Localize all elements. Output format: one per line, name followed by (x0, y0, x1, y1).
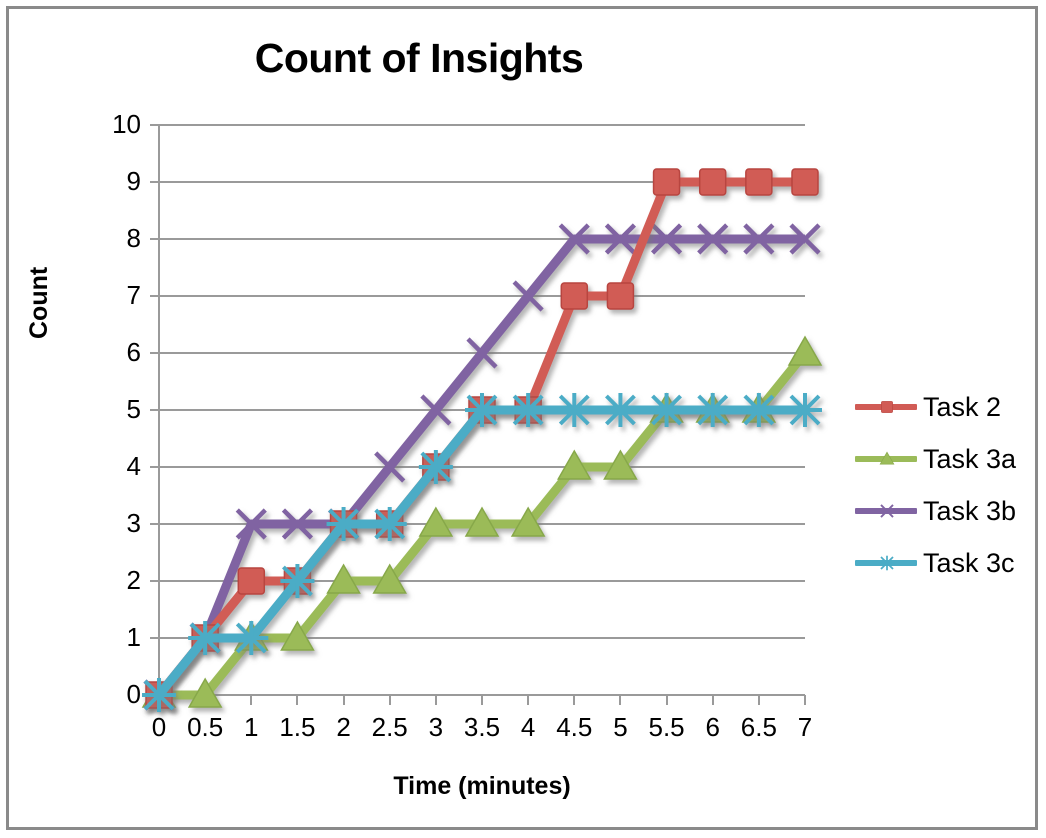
data-point-asterisk (557, 393, 591, 427)
data-point-square (654, 169, 680, 195)
y-tick (150, 409, 159, 411)
data-point-triangle (880, 452, 894, 464)
y-axis-tick-label: 10 (81, 109, 141, 140)
legend-marker-asterisk-icon (876, 552, 898, 574)
y-axis-tick-label: 0 (81, 679, 141, 710)
data-point-asterisk (142, 678, 176, 712)
data-point-square (792, 169, 818, 195)
data-point-asterisk (742, 393, 776, 427)
y-axis-tick-label: 5 (81, 394, 141, 425)
x-axis-title: Time (minutes) (159, 772, 805, 801)
series-line (159, 410, 805, 695)
data-point-x (422, 396, 450, 424)
y-axis-tick-label: 8 (81, 223, 141, 254)
legend-label: Task 3a (917, 444, 1016, 475)
y-axis-tick-label: 3 (81, 508, 141, 539)
legend-item-task-3c[interactable]: Task 3c (855, 537, 1045, 589)
series-task-2 (146, 169, 818, 708)
y-tick (150, 466, 159, 468)
legend-marker-square-icon (876, 396, 898, 418)
data-point-asterisk (880, 556, 895, 571)
plot-area (159, 125, 805, 695)
y-tick (150, 523, 159, 525)
y-axis-tick-label: 1 (81, 622, 141, 653)
legend-item-task-3a[interactable]: Task 3a (855, 433, 1045, 485)
x-tick (481, 695, 483, 705)
chart-legend: Task 2Task 3aTask 3bTask 3c (855, 381, 1045, 589)
x-tick (527, 695, 529, 705)
x-tick (573, 695, 575, 705)
y-axis-tick-label: 2 (81, 565, 141, 596)
data-point-square (881, 401, 892, 412)
legend-label: Task 2 (917, 392, 1001, 423)
legend-label: Task 3b (917, 496, 1016, 527)
y-axis-tick-label: 7 (81, 280, 141, 311)
data-point-asterisk (188, 621, 222, 655)
x-axis-tick-label: 7 (770, 712, 840, 743)
legend-marker-x-icon (876, 500, 898, 522)
y-tick (150, 238, 159, 240)
x-tick (666, 695, 668, 705)
y-axis-tick-label: 6 (81, 337, 141, 368)
legend-marker-triangle-icon (876, 448, 898, 470)
x-tick (296, 695, 298, 705)
y-tick (150, 124, 159, 126)
x-tick (250, 695, 252, 705)
y-tick (150, 637, 159, 639)
data-point-asterisk (327, 507, 361, 541)
y-axis-tick-label: 4 (81, 451, 141, 482)
chart-frame: Count of Insights Count 012345678910 00.… (6, 6, 1038, 830)
data-point-x (881, 505, 893, 517)
x-tick (389, 695, 391, 705)
y-tick (150, 181, 159, 183)
x-tick (712, 695, 714, 705)
data-point-x (514, 282, 542, 310)
data-point-square (607, 283, 633, 309)
data-point-asterisk (603, 393, 637, 427)
series-task-3a (143, 337, 821, 707)
data-point-square (746, 169, 772, 195)
legend-key-asterisk-icon (855, 548, 917, 578)
x-tick (343, 695, 345, 705)
legend-key-triangle-icon (855, 444, 917, 474)
x-tick (619, 695, 621, 705)
data-point-x (376, 453, 404, 481)
x-tick (758, 695, 760, 705)
series-layer (159, 125, 805, 695)
chart-title: Count of Insights (9, 35, 829, 82)
x-tick (435, 695, 437, 705)
data-point-asterisk (280, 564, 314, 598)
series-line (159, 182, 805, 695)
data-point-asterisk (511, 393, 545, 427)
data-point-square (700, 169, 726, 195)
legend-item-task-2[interactable]: Task 2 (855, 381, 1045, 433)
legend-key-square-icon (855, 392, 917, 422)
data-point-asterisk (788, 393, 822, 427)
x-tick (804, 695, 806, 705)
y-tick (150, 580, 159, 582)
y-axis-title: Count (25, 267, 54, 339)
y-tick (150, 352, 159, 354)
data-point-x (468, 339, 496, 367)
legend-key-x-icon (855, 496, 917, 526)
data-point-asterisk (373, 507, 407, 541)
y-tick (150, 295, 159, 297)
data-point-asterisk (650, 393, 684, 427)
data-point-asterisk (465, 393, 499, 427)
data-point-triangle (789, 337, 821, 365)
y-axis-tick-label: 9 (81, 166, 141, 197)
data-point-square (238, 568, 264, 594)
legend-item-task-3b[interactable]: Task 3b (855, 485, 1045, 537)
legend-label: Task 3c (917, 548, 1015, 579)
data-point-asterisk (696, 393, 730, 427)
data-point-square (561, 283, 587, 309)
data-point-asterisk (234, 621, 268, 655)
data-point-asterisk (419, 450, 453, 484)
